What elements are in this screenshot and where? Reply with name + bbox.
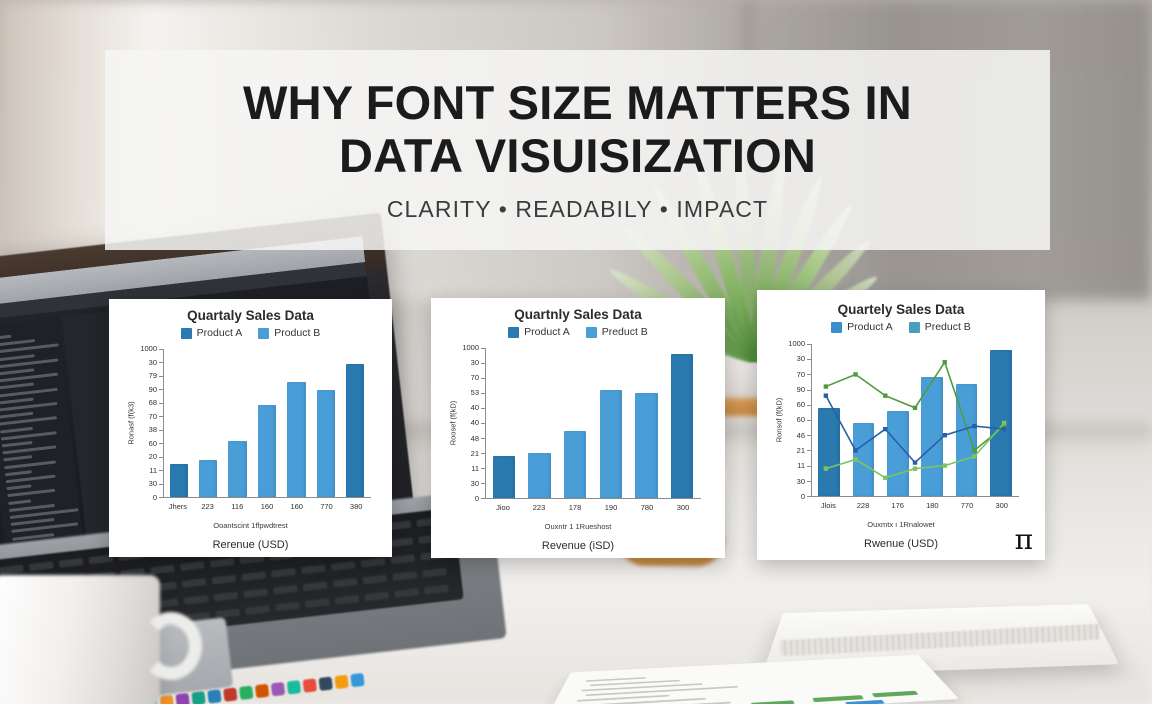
x-tick-label: 180 [915,501,950,510]
keyboard-key [180,561,205,571]
title-line-1: WHY FONT SIZE MATTERS IN [243,77,912,130]
y-tick-mark [481,438,485,439]
x-tick-label: 223 [193,502,223,511]
y-tick-label: 1000 [140,344,157,353]
y-tick-mark [481,483,485,484]
line-marker [853,448,857,452]
line-marker [913,466,917,470]
bar[interactable] [635,393,657,498]
legend-swatch-icon [586,327,597,338]
y-tick-mark [159,362,163,363]
x-tick-label: 178 [557,503,593,512]
bar[interactable] [600,390,622,498]
y-tick-label: 90 [149,385,157,394]
title-panel: WHY FONT SIZE MATTERS IN DATA VISUISIZAT… [105,50,1050,250]
x-axis-caption: Revenue (iSD) [431,540,725,552]
x-tick-label: Jlois [811,501,846,510]
x-tick-label: 228 [846,501,881,510]
x-tick-label: 780 [629,503,665,512]
line-marker [972,448,976,452]
dock-app-icon [207,689,221,703]
x-tick-label: 300 [665,503,701,512]
keyboard-key [0,565,24,575]
y-tick-label: 30 [471,358,479,367]
x-axis-ticks: Jlois228176180770300 [811,501,1019,510]
y-tick-label: 20 [149,452,157,461]
chart-title: Quartaly Sales Data [109,308,392,323]
pi-symbol-icon: π [1015,526,1033,554]
y-tick-mark [159,430,163,431]
y-tick-mark [481,408,485,409]
keyboard-key [273,585,298,595]
keyboard-key [241,571,266,581]
line-marker [883,393,887,397]
chart-card-2[interactable]: Quartnly Sales DataProduct APreduct BRoo… [431,298,725,558]
chart-card-1[interactable]: Quartaly Sales DataProduct AProduct BRon… [109,299,392,557]
legend-label: Product A [197,327,243,339]
x-tick-label: 160 [252,502,282,511]
coffee-mug-handle [140,612,202,680]
chart-title: Quartnly Sales Data [431,307,725,322]
legend-label: Product B [274,327,320,339]
y-tick-label: 40 [471,418,479,427]
keyboard-key [394,588,419,598]
chart-card-3[interactable]: Quartely Sales DataProduct APreduct BRon… [757,290,1045,560]
x-axis-ticks: Jioo223178190780300 [485,503,701,512]
legend-swatch-icon [181,328,192,339]
bar[interactable] [564,431,586,499]
dock-app-icon [334,674,348,688]
title-line-2: DATA VISUISIZATION [243,130,912,183]
keyboard-key [392,571,417,581]
dock-app-icon [318,676,332,690]
keyboard-key [363,575,388,585]
dock-app-icon [271,681,285,695]
keyboard-key [215,609,240,619]
y-tick-label: 60 [149,439,157,448]
y-tick-label: 30 [149,479,157,488]
bar[interactable] [493,456,515,498]
bar[interactable] [671,354,693,498]
line-marker [824,393,828,397]
y-tick-mark [159,389,163,390]
bar[interactable] [199,460,217,497]
dock-app-icon [287,680,301,694]
report-chart-bar [871,691,918,698]
keyboard-key [422,568,447,578]
y-tick-label: 11 [471,464,479,473]
bar[interactable] [287,382,305,497]
legend-item[interactable]: Preduct B [586,326,648,338]
x-axis-caption: Rwenue (USD) [757,538,1045,550]
y-tick-label: 68 [149,398,157,407]
line-marker [943,463,947,467]
x-tick-label: 380 [341,502,371,511]
line-marker [1002,427,1006,431]
keyboard-key [184,595,209,605]
keyboard-key [365,592,390,602]
bar[interactable] [346,364,364,497]
y-tick-mark [481,348,485,349]
keyboard-key [182,578,207,588]
keyboard-key [424,585,449,595]
y-tick-label: 70 [149,412,157,421]
y-tick-mark [159,443,163,444]
y-tick-label: 79 [149,371,157,380]
line-marker [883,427,887,431]
keyboard-key [29,561,54,571]
keyboard-key [271,568,296,578]
dock-app-icon [255,683,269,697]
keyboard-key [389,538,414,548]
y-tick-label: 21 [471,449,479,458]
y-tick-label: 0 [475,494,479,503]
line-marker [913,406,917,410]
report-chart-bar [751,700,795,704]
bar[interactable] [528,453,550,498]
y-tick-mark [481,468,485,469]
keyboard-key [303,581,328,591]
keyboard-key [59,558,84,568]
bar[interactable] [317,390,335,497]
dock-app-icon [239,685,253,699]
keyboard-key [361,558,386,568]
x-tick-label: 190 [593,503,629,512]
keyboard-key [331,561,356,571]
dock-app-icon [350,672,364,686]
y-tick-label: 53 [471,388,479,397]
chart-legend: Product APreduct B [431,326,725,338]
keyboard-key [210,558,235,568]
legend-item[interactable]: Product B [258,327,320,339]
x-axis-caption: Rerenue (USD) [109,539,392,551]
page-subtitle: CLARITY • READABILY • IMPACT [387,196,768,223]
x-tick-label: 160 [282,502,312,511]
keyboard-key [305,598,330,608]
legend-label: Preduct B [602,326,648,338]
dock-app-icon [159,694,173,704]
keyboard-key [301,565,326,575]
keyboard-key [245,605,270,615]
poster-canvas: WHY FONT SIZE MATTERS IN DATA VISUISIZAT… [0,0,1152,704]
y-tick-label: 30 [471,479,479,488]
y-tick-label: 11 [149,466,157,475]
y-axis-ticks: 1000307990687038602011300 [135,344,157,502]
bar-series [486,348,700,498]
line-marker [824,384,828,388]
dock-app-icon [191,691,205,704]
x-tick-label: 770 [312,502,342,511]
y-tick-mark [481,423,485,424]
y-tick-mark [159,416,163,417]
y-tick-label: 48 [471,434,479,443]
y-tick-label: 1000 [462,343,479,352]
line-marker [1002,421,1006,425]
y-tick-mark [481,498,485,499]
x-axis-label: Ooantscint 1ffpwdtrest [109,521,392,530]
y-tick-mark [481,378,485,379]
y-tick-mark [481,363,485,364]
keyboard-key [150,565,175,575]
bar[interactable] [170,464,188,497]
line-marker [913,460,917,464]
x-tick-label: 300 [984,501,1019,510]
y-tick-label: 0 [153,493,157,502]
legend-item[interactable]: Product A [508,326,570,338]
y-tick-mark [481,453,485,454]
line-marker [972,424,976,428]
x-axis-line [485,498,701,499]
line-marker [943,360,947,364]
legend-swatch-icon [508,327,519,338]
bar[interactable] [258,405,276,497]
x-tick-label: 770 [950,501,985,510]
chart-legend: Product AProduct B [109,327,392,339]
dock-app-icon [223,687,237,701]
page-title: WHY FONT SIZE MATTERS IN DATA VISUISIZAT… [243,77,912,182]
x-tick-label: 223 [521,503,557,512]
y-tick-label: 70 [471,373,479,382]
y-tick-mark [159,376,163,377]
y-tick-mark [159,457,163,458]
y-tick-mark [159,497,163,498]
line-marker [883,476,887,480]
x-axis-ticks: Jhers223116160160770380 [163,502,371,511]
y-tick-mark [481,393,485,394]
legend-swatch-icon [258,328,269,339]
line-marker [972,454,976,458]
keyboard-key [214,592,239,602]
bar[interactable] [228,441,246,497]
legend-item[interactable]: Product A [181,327,243,339]
y-tick-mark [159,349,163,350]
bar-series [164,349,370,497]
dock-app-icon [303,678,317,692]
x-axis-label: Ouxntr 1 1Rueshost [431,522,725,531]
x-tick-label: 116 [222,502,252,511]
y-tick-mark [159,470,163,471]
x-axis-line [163,497,371,498]
x-axis-label: Ouxmtx ı 1Rnalowet [757,520,1045,529]
y-tick-mark [159,484,163,485]
y-tick-label: 38 [149,425,157,434]
y-axis-ticks: 10003070534040482111300 [457,343,479,503]
legend-label: Product A [524,326,570,338]
keyboard-key [212,575,237,585]
x-tick-label: Jhers [163,502,193,511]
line-marker [853,457,857,461]
keyboard-key [335,595,360,605]
line-marker [853,372,857,376]
x-tick-label: Jioo [485,503,521,512]
coffee-mug [0,575,160,704]
line-marker [824,466,828,470]
report-chart-bar [845,700,885,704]
dock-app-icon [175,692,189,704]
y-tick-label: 30 [149,358,157,367]
keyboard-key [333,578,358,588]
x-tick-label: 176 [880,501,915,510]
line-marker [943,433,947,437]
y-tick-mark [159,403,163,404]
keyboard-key [390,554,415,564]
keyboard-key [275,602,300,612]
y-tick-label: 40 [471,403,479,412]
keyboard-key [243,588,268,598]
